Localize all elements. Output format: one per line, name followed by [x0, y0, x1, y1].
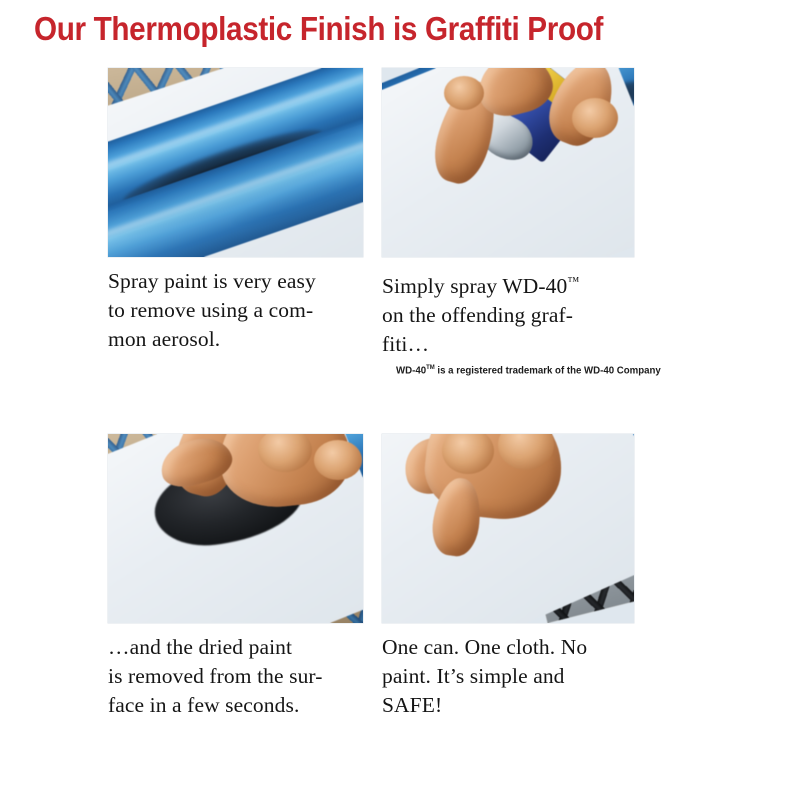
wd40-trademark-footnote: WD-40TM is a registered trademark of the…	[396, 361, 638, 377]
caption-line: Simply spray WD-40™	[382, 267, 640, 301]
knuckle	[314, 440, 362, 480]
caption-line: on the offending graf-	[382, 301, 640, 330]
caption-line: to remove using a com-	[108, 296, 366, 325]
knuckle	[572, 98, 618, 138]
caption-line: fiti…	[382, 330, 640, 359]
caption-line: paint. It’s simple and	[382, 662, 640, 691]
caption-line: mon aerosol.	[108, 325, 366, 354]
photo-scene-3	[108, 434, 363, 623]
photo-wiping-paint	[108, 434, 363, 623]
caption-panel-4: One can. One cloth. No paint. It’s simpl…	[382, 633, 640, 720]
caption-line: is removed from the sur-	[108, 662, 366, 691]
photo-clean-surface	[382, 434, 634, 623]
panel-spray-paint: Spray paint is very easy to remove using…	[108, 68, 364, 354]
footnote-suffix: is a registered trademark of the WD-40 C…	[435, 366, 661, 377]
footnote-superscript: TM	[426, 364, 435, 371]
footnote-prefix: WD-40	[396, 366, 426, 377]
caption-line: One can. One cloth. No	[382, 633, 640, 662]
caption-text: Simply spray WD-40	[382, 274, 567, 298]
photo-graffiti-on-edge	[108, 68, 363, 257]
photo-scene-4	[382, 434, 634, 623]
photo-spraying-wd40	[382, 68, 634, 257]
panel-clean-result: One can. One cloth. No paint. It’s simpl…	[382, 434, 638, 720]
panel-wipe-cloth: …and the dried paint is removed from the…	[108, 434, 364, 720]
panel-grid: Spray paint is very easy to remove using…	[0, 62, 800, 742]
caption-line: Spray paint is very easy	[108, 267, 366, 296]
caption-panel-2: Simply spray WD-40™ on the offending gra…	[382, 267, 640, 359]
knuckle	[444, 76, 484, 110]
caption-line: …and the dried paint	[108, 633, 366, 662]
caption-panel-1: Spray paint is very easy to remove using…	[108, 267, 366, 354]
caption-line: SAFE!	[382, 691, 640, 720]
panel-spray-wd40: Simply spray WD-40™ on the offending gra…	[382, 68, 638, 378]
page-title: Our Thermoplastic Finish is Graffiti Pro…	[34, 8, 664, 52]
caption-line: face in a few seconds.	[108, 691, 366, 720]
photo-scene-1	[108, 68, 363, 257]
caption-panel-3: …and the dried paint is removed from the…	[108, 633, 366, 720]
photo-scene-2	[382, 68, 634, 257]
trademark-superscript: ™	[567, 274, 579, 288]
